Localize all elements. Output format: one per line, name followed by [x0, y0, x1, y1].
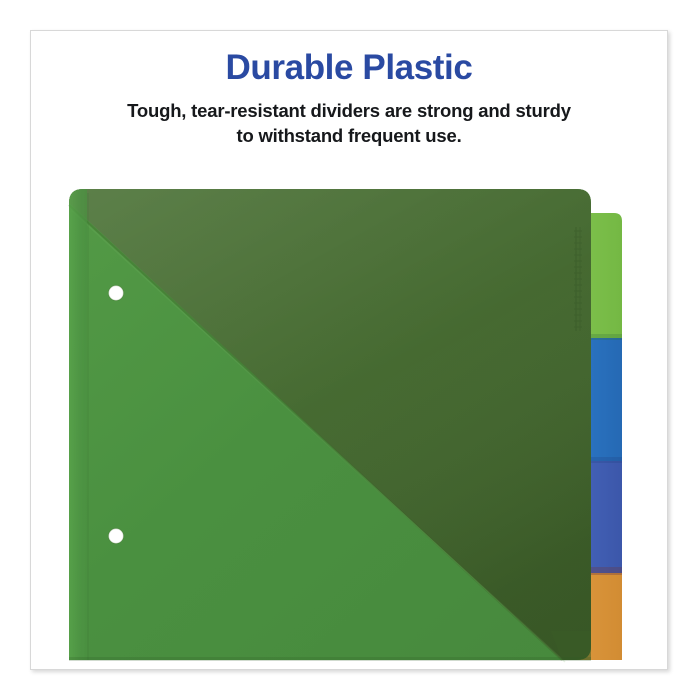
product-photo — [31, 31, 668, 670]
sheet-binding-edge — [69, 189, 87, 660]
ribbed-spine-icon — [574, 227, 582, 331]
sheet-bottom-shadow — [69, 657, 591, 661]
green-divider-sheet — [69, 189, 591, 662]
product-image-card: Durable Plastic Tough, tear-resistant di… — [30, 30, 668, 670]
